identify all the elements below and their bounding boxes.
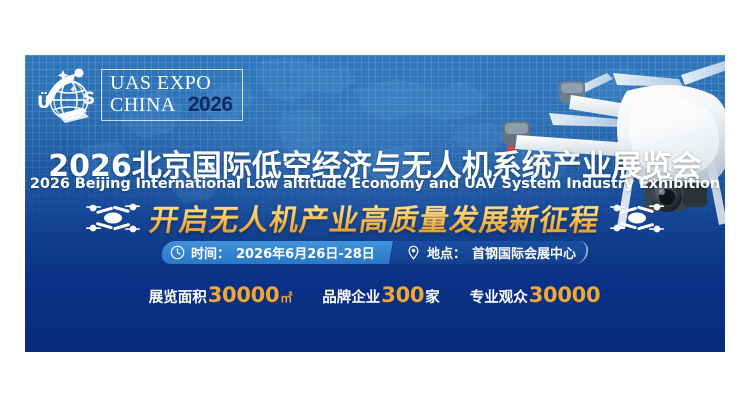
svg-text:Ü: Ü: [37, 91, 51, 113]
event-time-value: 2026年6月26日-28日: [236, 243, 375, 262]
stat-label: 专业观众: [470, 286, 528, 307]
stat-label: 品牌企业: [322, 286, 380, 307]
stat-label: 展览面积: [149, 286, 207, 307]
banner-title-english: 2026 Beijing International Low altitude …: [25, 176, 725, 192]
stat-unit: 家: [425, 286, 440, 307]
stat-item: 展览面积 30000 ㎡: [149, 283, 293, 307]
event-info-row: 时间： 2026年6月26日-28日 地点： 首钢国际会展中心: [25, 241, 725, 264]
location-pin-icon: [406, 245, 421, 260]
stat-number: 300: [381, 283, 424, 307]
drone-icon: [86, 203, 140, 233]
stat-item: 专业观众 30000: [470, 283, 602, 307]
slogan-row: 开启无人机产业高质量发展新征程: [25, 197, 725, 239]
logo-text-block: UAS EXPO CHINA 2026: [101, 69, 243, 121]
event-time-badge: 时间： 2026年6月26日-28日: [160, 241, 393, 264]
exhibition-banner: Ü S UAS EXPO CHINA 2026 2026北京国际低空经济与无人机…: [25, 55, 725, 352]
stat-item: 品牌企业 300 家: [322, 283, 439, 307]
uas-expo-logo[interactable]: Ü S UAS EXPO CHINA 2026: [33, 64, 243, 126]
event-venue-label: 地点：: [427, 243, 466, 262]
event-stats-row: 展览面积 30000 ㎡ 品牌企业 300 家 专业观众 30000: [25, 283, 725, 307]
event-time-label: 时间：: [191, 243, 230, 262]
drone-icon: [610, 203, 664, 233]
stat-unit: ㎡: [280, 289, 292, 306]
logo-line-uas-expo: UAS EXPO: [110, 73, 211, 94]
event-venue-badge: 地点： 首钢国际会展中心: [390, 241, 590, 264]
banner-slogan: 开启无人机产业高质量发展新征程: [147, 197, 604, 239]
stat-number: 30000: [208, 283, 280, 307]
logo-line-china: CHINA: [110, 95, 176, 116]
stat-number: 30000: [529, 283, 601, 307]
logo-year: 2026: [188, 94, 233, 116]
clock-icon: [170, 245, 185, 260]
event-venue-value: 首钢国际会展中心: [472, 243, 576, 262]
svg-text:S: S: [83, 89, 95, 109]
screenshot-canvas: Ü S UAS EXPO CHINA 2026 2026北京国际低空经济与无人机…: [0, 0, 750, 410]
globe-satellite-logo-icon: Ü S: [33, 64, 103, 126]
